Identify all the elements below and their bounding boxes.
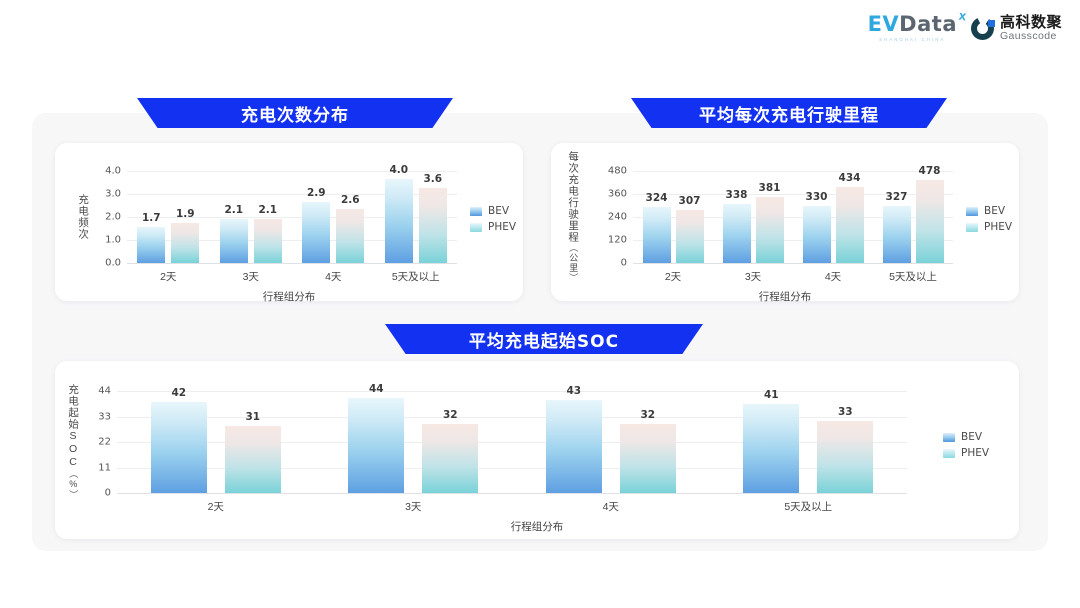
- plot-area: 4231443243324133: [117, 391, 907, 493]
- y-axis-tick: 240: [551, 212, 627, 223]
- evdata-ev-text: EV: [868, 12, 900, 36]
- bar-value-label: 327: [886, 191, 908, 203]
- evdata-x-icon: x: [958, 9, 967, 23]
- y-axis-tick: 120: [551, 235, 627, 246]
- bar-bev[interactable]: 1.7: [137, 227, 165, 263]
- legend-item-bev[interactable]: BEV: [943, 431, 989, 443]
- bar-value-label: 41: [764, 389, 779, 401]
- chart-title-banner-2: 平均每次充电行驶里程: [631, 98, 947, 128]
- x-axis-tick-label: 5天及以上: [375, 269, 458, 284]
- chart-card-charging-frequency: 充电频次4.03.02.01.00.01.71.92.12.12.92.64.0…: [55, 143, 523, 301]
- legend-item-phev[interactable]: PHEV: [966, 221, 1012, 233]
- bar-value-label: 338: [726, 189, 748, 201]
- plot-area: 1.71.92.12.12.92.64.03.6: [127, 171, 457, 263]
- bar-value-label: 33: [838, 406, 853, 418]
- y-axis-tick: 1.0: [55, 235, 121, 246]
- bar-bev[interactable]: 43: [546, 400, 602, 493]
- bar-value-label: 2.6: [341, 194, 360, 206]
- bar-phev[interactable]: 478: [916, 180, 944, 263]
- bar-value-label: 324: [646, 192, 668, 204]
- legend-item-phev[interactable]: PHEV: [470, 221, 516, 233]
- x-axis-labels: 2天3天4天5天及以上: [117, 499, 907, 514]
- bar-value-label: 1.9: [176, 208, 195, 220]
- y-axis-title-line1: 充电起始SOC: [67, 384, 79, 469]
- bar-bev[interactable]: 2.1: [220, 219, 248, 263]
- x-axis-tick-label: 2天: [117, 499, 315, 514]
- x-axis-tick-label: 2天: [633, 269, 713, 284]
- y-axis-tick: 11: [55, 462, 111, 473]
- bar-phev[interactable]: 2.6: [336, 209, 364, 263]
- bar-group: 4332: [512, 391, 710, 493]
- bar-bev[interactable]: 41: [743, 404, 799, 493]
- chart-chart3: 充电起始SOC（%）44332211042314432433241332天3天4…: [55, 361, 1019, 539]
- evdata-logo: EVData x SHANGHAI CHINA: [868, 14, 957, 42]
- bar-group: 4133: [710, 391, 908, 493]
- legend-swatch-phev: [943, 449, 955, 458]
- bar-phev[interactable]: 31: [225, 426, 281, 493]
- bar-value-label: 32: [443, 409, 458, 421]
- y-axis-tick: 0.0: [55, 258, 121, 269]
- y-axis-tick: 3.0: [55, 189, 121, 200]
- bar-group: 4432: [315, 391, 513, 493]
- evdata-tagline: SHANGHAI CHINA: [879, 38, 945, 42]
- legend: BEVPHEV: [470, 205, 516, 233]
- x-axis-labels: 2天3天4天5天及以上: [127, 269, 457, 284]
- x-axis-tick-label: 4天: [512, 499, 710, 514]
- legend-swatch-bev: [470, 207, 482, 216]
- x-axis-title: 行程组分布: [55, 289, 523, 304]
- x-axis-tick-label: 5天及以上: [710, 499, 908, 514]
- bar-phev[interactable]: 33: [817, 421, 873, 493]
- bar-group: 2.92.6: [292, 171, 375, 263]
- y-axis-tick: 4.0: [55, 166, 121, 177]
- x-axis-tick-label: 3天: [315, 499, 513, 514]
- bar-value-label: 4.0: [389, 164, 408, 176]
- y-axis-tick: 22: [55, 437, 111, 448]
- legend-item-bev[interactable]: BEV: [966, 205, 1012, 217]
- bar-phev[interactable]: 381: [756, 197, 784, 263]
- bar-group: 1.71.9: [127, 171, 210, 263]
- legend-item-phev[interactable]: PHEV: [943, 447, 989, 459]
- bar-phev[interactable]: 307: [676, 210, 704, 263]
- x-axis-tick-label: 4天: [292, 269, 375, 284]
- bar-bev[interactable]: 324: [643, 207, 671, 263]
- bar-phev[interactable]: 3.6: [419, 188, 447, 263]
- legend-label: BEV: [961, 431, 982, 443]
- slide-root: EVData x SHANGHAI CHINA 高科数聚 Gausscode 充…: [0, 0, 1080, 608]
- legend-swatch-phev: [470, 223, 482, 232]
- x-axis-line: [633, 263, 953, 264]
- legend-label: PHEV: [984, 221, 1012, 233]
- bar-value-label: 31: [245, 411, 260, 423]
- logo-bar: EVData x SHANGHAI CHINA 高科数聚 Gausscode: [868, 14, 1062, 42]
- x-axis-line: [117, 493, 907, 494]
- bar-bev[interactable]: 338: [723, 204, 751, 263]
- bar-group: 2.12.1: [210, 171, 293, 263]
- bar-phev[interactable]: 32: [620, 424, 676, 493]
- x-axis-title: 行程组分布: [55, 519, 1019, 534]
- evdata-wordmark: EVData: [868, 14, 957, 35]
- legend: BEVPHEV: [966, 205, 1012, 233]
- y-axis-tick: 2.0: [55, 212, 121, 223]
- bar-bev[interactable]: 2.9: [302, 202, 330, 263]
- y-axis-tick: 33: [55, 411, 111, 422]
- x-axis-labels: 2天3天4天5天及以上: [633, 269, 953, 284]
- y-axis-tick: 44: [55, 386, 111, 397]
- y-axis-tick: 0: [55, 488, 111, 499]
- bar-value-label: 2.9: [307, 187, 326, 199]
- legend-swatch-bev: [966, 207, 978, 216]
- bar-value-label: 381: [759, 182, 781, 194]
- legend-label: PHEV: [488, 221, 516, 233]
- bar-group: 4.03.6: [375, 171, 458, 263]
- bar-phev[interactable]: 1.9: [171, 223, 199, 263]
- bar-value-label: 478: [919, 165, 941, 177]
- bar-bev[interactable]: 330: [803, 206, 831, 264]
- chart-card-start-soc: 充电起始SOC（%）44332211042314432433241332天3天4…: [55, 361, 1019, 539]
- bar-group: 324307: [633, 171, 713, 263]
- bar-phev[interactable]: 32: [422, 424, 478, 493]
- y-axis-tick: 360: [551, 189, 627, 200]
- gausscode-square-icon: [988, 20, 995, 27]
- evdata-data-text: Data: [899, 12, 957, 36]
- bar-phev[interactable]: 434: [836, 187, 864, 263]
- gausscode-wordmark: 高科数聚 Gausscode: [1000, 15, 1062, 42]
- legend-swatch-bev: [943, 433, 955, 442]
- bar-value-label: 42: [171, 387, 186, 399]
- bar-value-label: 2.1: [224, 204, 243, 216]
- bar-group: 338381: [713, 171, 793, 263]
- bar-value-label: 307: [679, 195, 701, 207]
- gausscode-cn-name: 高科数聚: [1000, 15, 1062, 31]
- y-axis-tick: 480: [551, 166, 627, 177]
- bar-value-label: 32: [640, 409, 655, 421]
- bar-value-label: 2.1: [258, 204, 277, 216]
- legend: BEVPHEV: [943, 431, 989, 459]
- chart-title-banner-1: 充电次数分布: [137, 98, 453, 128]
- y-axis-tick: 0: [551, 258, 627, 269]
- bar-value-label: 330: [806, 191, 828, 203]
- bar-bev[interactable]: 44: [348, 398, 404, 493]
- bar-group: 4231: [117, 391, 315, 493]
- bar-bev[interactable]: 42: [151, 402, 207, 493]
- bar-phev[interactable]: 2.1: [254, 219, 282, 263]
- gausscode-logo: 高科数聚 Gausscode: [971, 15, 1062, 42]
- x-axis-tick-label: 2天: [127, 269, 210, 284]
- plot-area: 324307338381330434327478: [633, 171, 953, 263]
- chart-title-banner-3: 平均充电起始SOC: [385, 324, 703, 354]
- bar-value-label: 434: [839, 172, 861, 184]
- x-axis-title: 行程组分布: [551, 289, 1019, 304]
- x-axis-tick-label: 4天: [793, 269, 873, 284]
- bar-bev[interactable]: 4.0: [385, 179, 413, 263]
- bar-value-label: 1.7: [142, 212, 161, 224]
- x-axis-tick-label: 5天及以上: [873, 269, 953, 284]
- x-axis-tick-label: 3天: [713, 269, 793, 284]
- bar-group: 327478: [873, 171, 953, 263]
- chart-card-distance-per-charge: 每次充电行驶里程（公里）4803602401200324307338381330…: [551, 143, 1019, 301]
- bar-value-label: 43: [566, 385, 581, 397]
- x-axis-tick-label: 3天: [210, 269, 293, 284]
- gausscode-en-name: Gausscode: [1000, 31, 1062, 42]
- bar-group: 330434: [793, 171, 873, 263]
- chart-chart1: 充电频次4.03.02.01.00.01.71.92.12.12.92.64.0…: [55, 143, 523, 301]
- x-axis-line: [127, 263, 457, 264]
- bar-bev[interactable]: 327: [883, 206, 911, 263]
- legend-label: BEV: [488, 205, 509, 217]
- gausscode-ring-hole: [977, 23, 988, 34]
- legend-label: PHEV: [961, 447, 989, 459]
- gausscode-g-icon: [971, 17, 994, 40]
- legend-label: BEV: [984, 205, 1005, 217]
- bar-value-label: 3.6: [423, 173, 442, 185]
- bar-value-label: 44: [369, 383, 384, 395]
- legend-swatch-phev: [966, 223, 978, 232]
- legend-item-bev[interactable]: BEV: [470, 205, 516, 217]
- chart-chart2: 每次充电行驶里程（公里）4803602401200324307338381330…: [551, 143, 1019, 301]
